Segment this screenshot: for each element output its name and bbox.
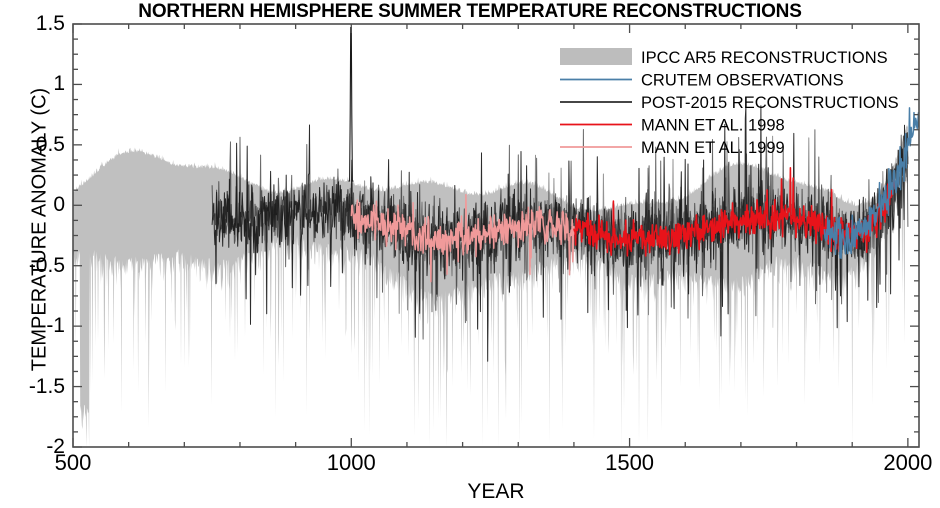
plot-canvas: IPCC AR5 RECONSTRUCTIONSCRUTEM OBSERVATI… bbox=[0, 0, 940, 508]
data-series-layer bbox=[73, 28, 919, 447]
chart-figure: NORTHERN HEMISPHERE SUMMER TEMPERATURE R… bbox=[0, 0, 940, 508]
legend-label: IPCC AR5 RECONSTRUCTIONS bbox=[641, 49, 888, 67]
legend-label: MANN ET AL. 1999 bbox=[641, 139, 785, 157]
legend-label: CRUTEM OBSERVATIONS bbox=[641, 72, 844, 90]
legend-swatch bbox=[560, 48, 632, 65]
legend-label: POST-2015 RECONSTRUCTIONS bbox=[641, 94, 899, 112]
chart-legend: IPCC AR5 RECONSTRUCTIONSCRUTEM OBSERVATI… bbox=[560, 48, 899, 157]
legend-label: MANN ET AL. 1998 bbox=[641, 117, 785, 135]
